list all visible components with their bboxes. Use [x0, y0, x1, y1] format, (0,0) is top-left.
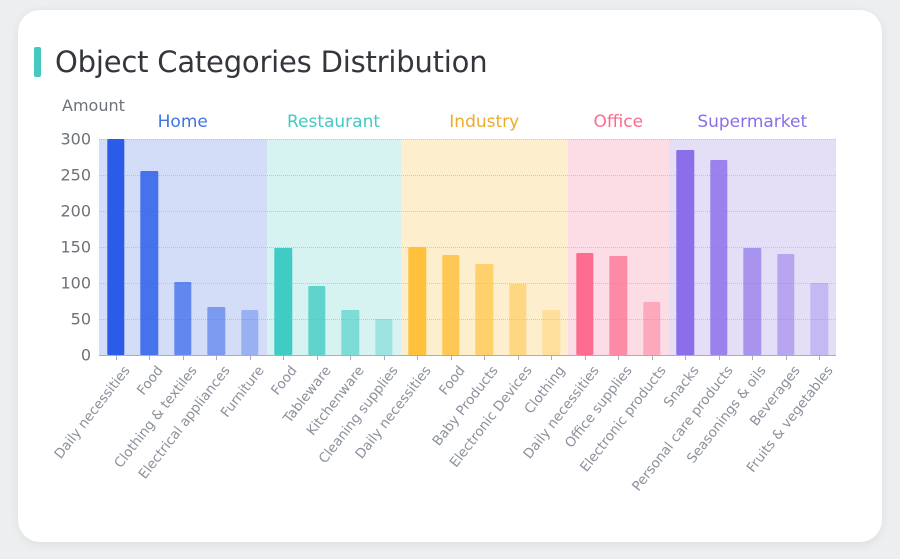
x-tick [484, 355, 485, 360]
x-tick [283, 355, 284, 360]
x-tick [250, 355, 251, 360]
x-tick [786, 355, 787, 360]
page-title: Object Categories Distribution [55, 45, 487, 79]
x-tick-label: Food [436, 363, 469, 398]
plot-area: 050100150200250300 Daily necessitiesFood… [99, 139, 836, 355]
bar-slot[interactable] [200, 139, 234, 355]
bar-slot[interactable] [401, 139, 435, 355]
title-accent-bar [34, 47, 41, 77]
bar[interactable] [409, 247, 426, 355]
bar[interactable] [643, 302, 660, 355]
bar[interactable] [174, 282, 191, 355]
bar[interactable] [208, 307, 225, 355]
y-tick-label: 100 [60, 274, 91, 293]
bar-slot[interactable] [133, 139, 167, 355]
bar[interactable] [342, 310, 359, 355]
x-tick-label: Food [268, 363, 301, 398]
group-label-office: Office [593, 112, 643, 132]
bar[interactable] [811, 283, 828, 355]
bar-slot[interactable] [334, 139, 368, 355]
bar-slot[interactable] [166, 139, 200, 355]
bar-slot[interactable] [568, 139, 602, 355]
x-tick [752, 355, 753, 360]
bar[interactable] [777, 254, 794, 355]
bar-slot[interactable] [367, 139, 401, 355]
bar-slot[interactable] [535, 139, 569, 355]
bar-slot[interactable] [99, 139, 133, 355]
x-tick [417, 355, 418, 360]
y-axis-title: Amount [62, 96, 125, 115]
x-tick [719, 355, 720, 360]
group-label-restaurant: Restaurant [287, 112, 380, 132]
bar-slot[interactable] [669, 139, 703, 355]
x-tick [685, 355, 686, 360]
bar[interactable] [107, 139, 124, 355]
x-tick-label: Food [134, 363, 167, 398]
bar[interactable] [275, 248, 292, 355]
bar[interactable] [375, 319, 392, 355]
x-tick [819, 355, 820, 360]
group-label-supermarket: Supermarket [697, 112, 807, 132]
bar-slot[interactable] [300, 139, 334, 355]
bar[interactable] [710, 160, 727, 355]
bar[interactable] [509, 284, 526, 355]
bar-slot[interactable] [233, 139, 267, 355]
y-tick-label: 0 [81, 346, 91, 365]
bar-slot[interactable] [501, 139, 535, 355]
chart-header: Object Categories Distribution [34, 45, 487, 79]
y-tick-label: 300 [60, 130, 91, 149]
bar-slot[interactable] [702, 139, 736, 355]
bar[interactable] [241, 310, 258, 355]
x-tick [518, 355, 519, 360]
bar-slot[interactable] [803, 139, 837, 355]
x-tick [116, 355, 117, 360]
bar-slot[interactable] [468, 139, 502, 355]
y-tick-label: 150 [60, 238, 91, 257]
bar[interactable] [442, 255, 459, 355]
group-label-industry: Industry [449, 112, 519, 132]
y-tick-label: 50 [71, 310, 91, 329]
x-tick [652, 355, 653, 360]
x-tick [551, 355, 552, 360]
bar[interactable] [576, 253, 593, 355]
bar-slot[interactable] [267, 139, 301, 355]
x-tick [384, 355, 385, 360]
x-axis-line [99, 355, 836, 356]
bar-slot[interactable] [434, 139, 468, 355]
x-tick [317, 355, 318, 360]
group-label-home: Home [158, 112, 208, 132]
bar-slot[interactable] [602, 139, 636, 355]
chart-card: Object Categories Distribution Amount 05… [18, 10, 882, 542]
x-tick [618, 355, 619, 360]
bar-slot[interactable] [736, 139, 770, 355]
x-tick [585, 355, 586, 360]
bar[interactable] [677, 150, 694, 355]
bar-slot[interactable] [635, 139, 669, 355]
x-tick [149, 355, 150, 360]
y-tick-label: 250 [60, 166, 91, 185]
x-tick [350, 355, 351, 360]
x-tick [183, 355, 184, 360]
x-tick [451, 355, 452, 360]
bar[interactable] [744, 248, 761, 355]
x-tick [216, 355, 217, 360]
y-tick-label: 200 [60, 202, 91, 221]
bar[interactable] [141, 171, 158, 355]
bar-slot[interactable] [769, 139, 803, 355]
bar[interactable] [543, 310, 560, 355]
bar[interactable] [610, 256, 627, 355]
bar[interactable] [308, 286, 325, 355]
bar[interactable] [476, 264, 493, 355]
